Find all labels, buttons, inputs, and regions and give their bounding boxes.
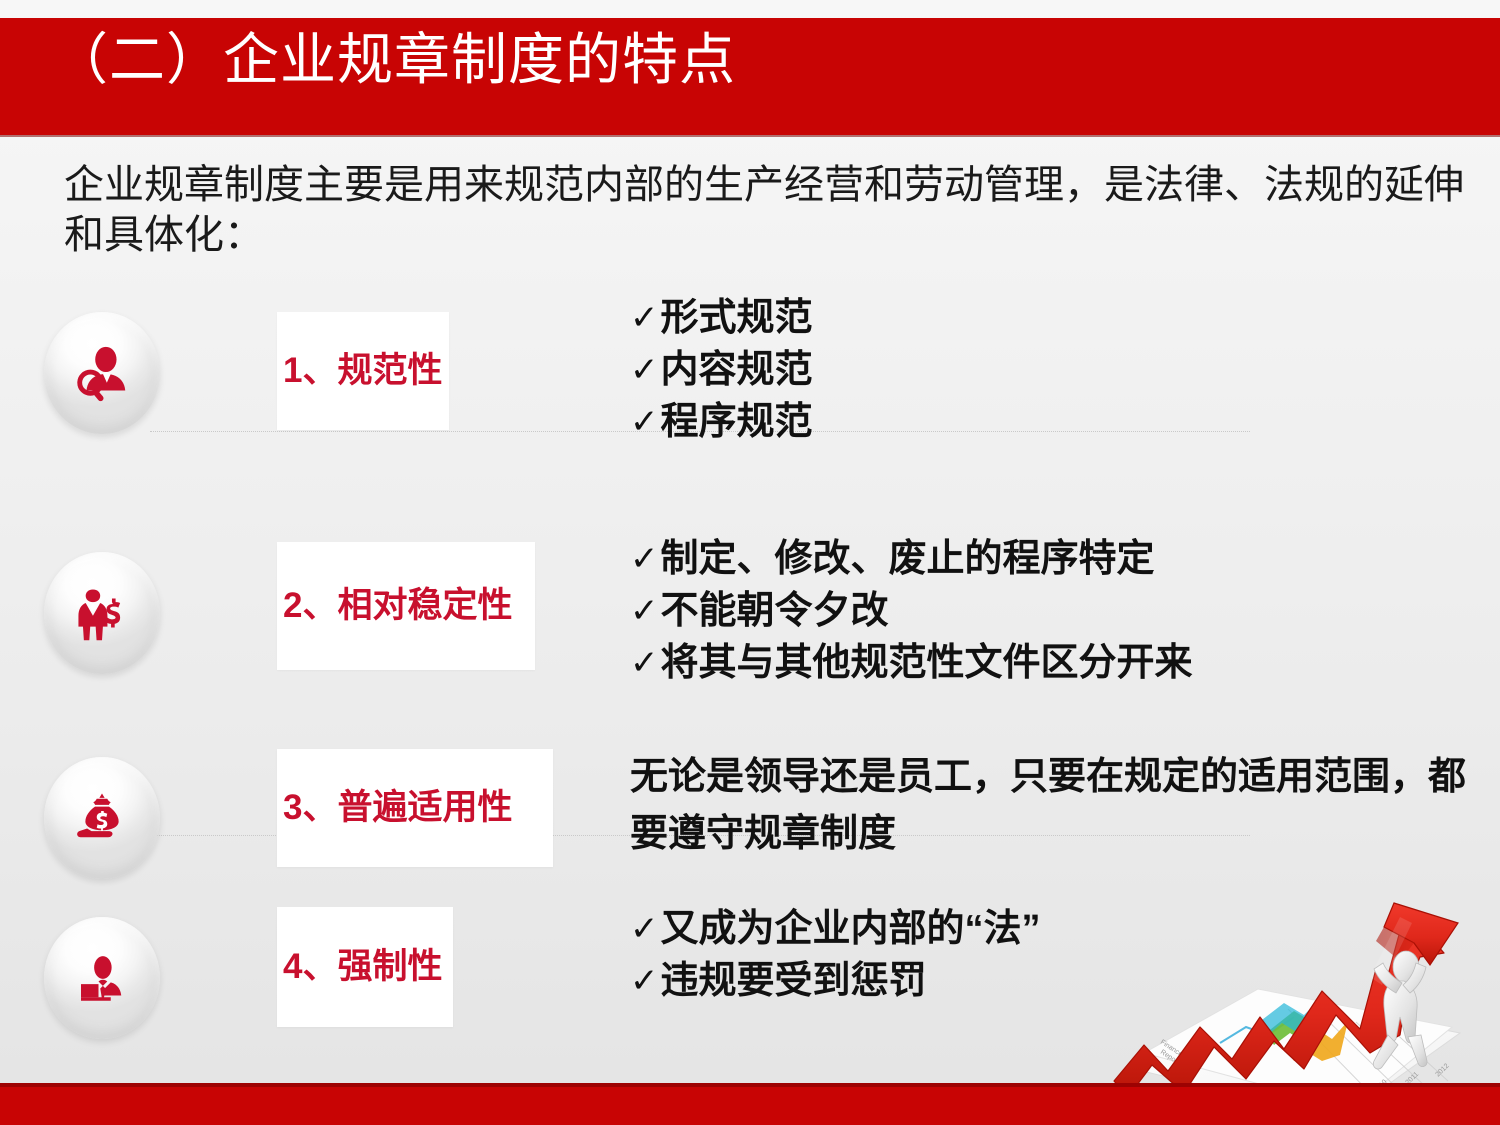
- list-item: ✓ 不能朝令夕改: [630, 585, 1470, 637]
- list-item-label: 不能朝令夕改: [661, 585, 889, 637]
- feature-rows: 1、规范性 ✓ 形式规范 ✓ 内容规范 ✓ 程序规范: [0, 290, 1500, 1060]
- feature-row: 3、普遍适用性 无论是领导还是员工，只要在规定的适用范围，都要遵守规章制度: [0, 735, 1500, 895]
- list-item: ✓ 违规要受到惩罚: [630, 955, 1470, 1007]
- check-icon: ✓: [630, 533, 659, 585]
- feature-paragraph: 无论是领导还是员工，只要在规定的适用范围，都要遵守规章制度: [630, 749, 1490, 863]
- check-icon: ✓: [630, 637, 659, 689]
- list-item-label: 程序规范: [661, 396, 813, 448]
- svg-text:2012: 2012: [1435, 1063, 1451, 1079]
- feature-row: 4、强制性 ✓ 又成为企业内部的“法” ✓ 违规要受到惩罚: [0, 895, 1500, 1060]
- person-with-magnifier-icon: [44, 312, 160, 434]
- list-item: ✓ 内容规范: [630, 344, 1470, 396]
- feature-label-card: 1、规范性: [277, 312, 449, 430]
- check-icon: ✓: [630, 292, 659, 344]
- check-icon: ✓: [630, 344, 659, 396]
- intro-paragraph: 企业规章制度主要是用来规范内部的生产经营和劳动管理，是法律、法规的延伸和具体化：: [64, 160, 1464, 260]
- feature-label-card: 4、强制性: [277, 907, 453, 1027]
- list-item: ✓ 程序规范: [630, 396, 1470, 448]
- money-bag-in-hand-icon: [44, 757, 160, 879]
- feature-bullet-list: ✓ 形式规范 ✓ 内容规范 ✓ 程序规范: [630, 292, 1470, 448]
- person-with-necktie-icon: [44, 917, 160, 1039]
- check-icon: ✓: [630, 903, 659, 955]
- feature-label-card: 2、相对稳定性: [277, 542, 535, 670]
- feature-row: 2、相对稳定性 ✓ 制定、修改、废止的程序特定 ✓ 不能朝令夕改 ✓ 将其与其他…: [0, 505, 1500, 730]
- footer-bar: [0, 1083, 1500, 1125]
- feature-label: 3、普遍适用性: [277, 788, 512, 828]
- feature-row: 1、规范性 ✓ 形式规范 ✓ 内容规范 ✓ 程序规范: [0, 290, 1500, 500]
- list-item: ✓ 制定、修改、废止的程序特定: [630, 533, 1470, 585]
- list-item-label: 制定、修改、废止的程序特定: [661, 533, 1155, 585]
- feature-label: 4、强制性: [277, 947, 442, 987]
- check-icon: ✓: [630, 396, 659, 448]
- page-title: （二）企业规章制度的特点: [52, 29, 736, 91]
- businessman-with-dollar-icon: [44, 552, 160, 674]
- list-item-label: 违规要受到惩罚: [661, 955, 927, 1007]
- check-icon: ✓: [630, 955, 659, 1007]
- slide: （二）企业规章制度的特点 企业规章制度主要是用来规范内部的生产经营和劳动管理，是…: [0, 0, 1500, 1125]
- list-item-label: 将其与其他规范性文件区分开来: [661, 637, 1193, 689]
- list-item: ✓ 又成为企业内部的“法”: [630, 903, 1470, 955]
- list-item: ✓ 形式规范: [630, 292, 1470, 344]
- feature-label: 1、规范性: [277, 351, 442, 391]
- list-item-label: 内容规范: [661, 344, 813, 396]
- check-icon: ✓: [630, 585, 659, 637]
- feature-bullet-list: ✓ 又成为企业内部的“法” ✓ 违规要受到惩罚: [630, 903, 1470, 1007]
- list-item: ✓ 将其与其他规范性文件区分开来: [630, 637, 1470, 689]
- feature-label-card: 3、普遍适用性: [277, 749, 553, 867]
- feature-label: 2、相对稳定性: [277, 586, 512, 626]
- list-item-label: 又成为企业内部的“法”: [661, 903, 1041, 955]
- list-item-label: 形式规范: [661, 292, 813, 344]
- feature-bullet-list: ✓ 制定、修改、废止的程序特定 ✓ 不能朝令夕改 ✓ 将其与其他规范性文件区分开…: [630, 533, 1470, 689]
